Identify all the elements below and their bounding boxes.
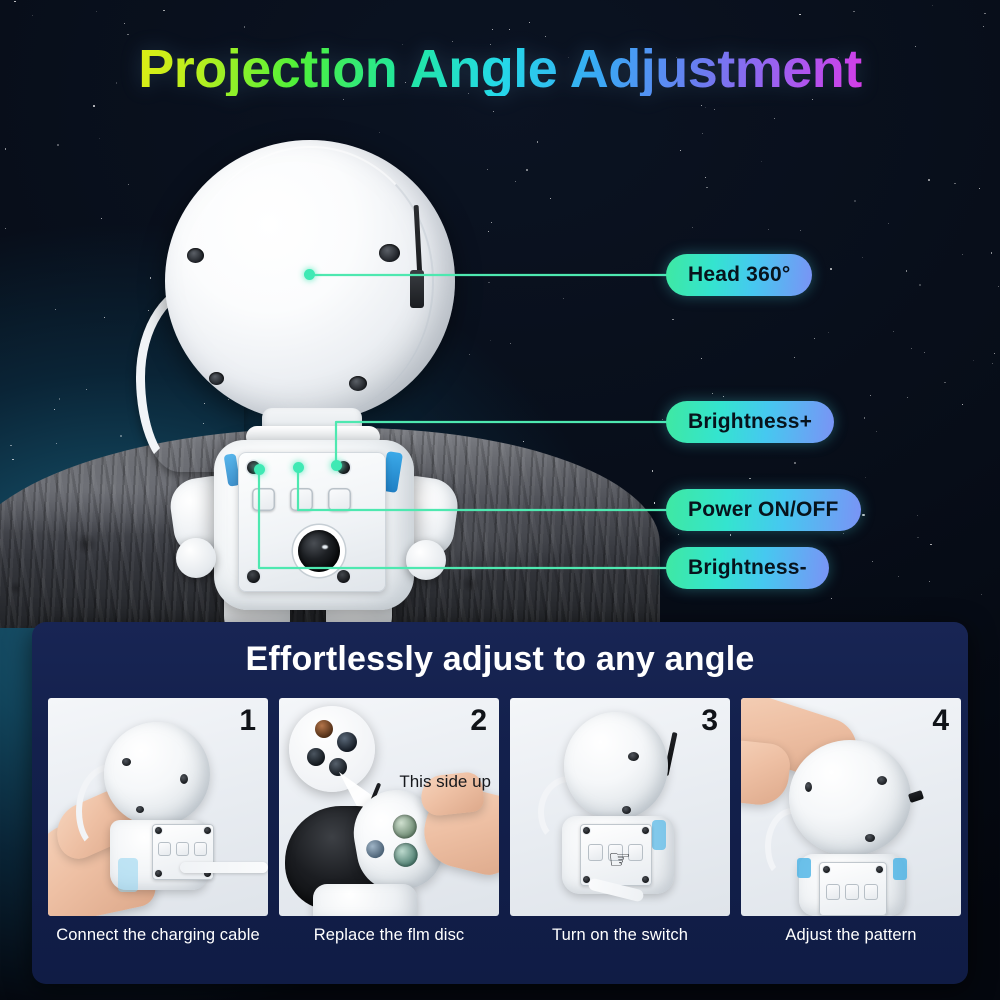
projector-head [789,740,911,856]
step-4-image: 4 [741,698,961,916]
star [929,581,930,582]
star [99,138,100,139]
star [862,257,863,258]
star [994,353,995,354]
blue-trim [652,820,666,850]
star [550,198,551,199]
star [96,11,97,12]
right-hand [406,540,446,580]
star [919,284,921,286]
star [714,109,715,110]
star [870,395,871,396]
callout-label-brightness-minus[interactable]: Brightness- [666,547,829,589]
vent-hole [122,758,131,766]
star [678,534,679,535]
vent-hole [865,834,875,842]
star [509,29,510,30]
panel-screw [583,827,590,834]
product-infographic: Projection Angle Adjustment [0,0,1000,1000]
star [57,144,59,146]
blue-trim [797,858,811,878]
star [893,331,894,332]
star [998,286,999,287]
blue-trim [118,858,138,892]
star [981,594,982,595]
panel-screw [642,827,649,834]
star [59,398,60,399]
star [944,382,946,384]
star [510,343,511,344]
star [962,404,963,405]
star [730,534,731,535]
star [101,218,102,219]
star [854,200,856,202]
star [712,393,713,394]
vent-hole [628,752,639,761]
disc-lens [337,732,357,752]
step-number: 4 [932,704,949,738]
panel-screw [337,461,350,474]
star [768,229,769,230]
star [862,514,865,517]
star [55,309,56,310]
head-vent-hole [349,376,367,391]
head-vent-hole [209,372,224,385]
brightness-down-button[interactable] [826,884,840,900]
star [928,179,930,181]
panel-screw [642,876,649,883]
callout-label-brightness-plus[interactable]: Brightness+ [666,401,834,443]
banner-heading: Effortlessly adjust to any angle [32,640,968,679]
head-vent-hole [187,248,204,263]
star [843,533,844,534]
step-1-image: 1 [48,698,268,916]
left-hand [176,538,216,578]
star [814,338,815,339]
projector-head [104,722,210,826]
vent-hole [180,774,188,784]
star [526,169,528,171]
head-vent-hole [379,244,400,262]
star [5,228,6,229]
star [794,462,797,465]
star [124,23,125,24]
star [991,252,992,253]
star [5,148,6,149]
projector-head [564,712,668,820]
star [876,431,877,432]
steps-banner: Effortlessly adjust to any angle 1 [32,622,968,984]
vent-hole [136,806,144,813]
list-item[interactable]: 2 This side up [279,698,499,945]
star [954,183,955,184]
star [515,181,516,182]
star [979,188,980,189]
step-caption: Turn on the switch [510,926,730,945]
star [812,99,813,100]
steps-list: 1 [48,698,952,945]
usb-connector [180,862,268,873]
callout-label-head[interactable]: Head 360° [666,254,812,296]
power-button[interactable] [845,884,859,900]
brightness-up-button[interactable] [864,884,878,900]
control-panel [819,862,887,916]
projector-body [313,884,417,916]
star [911,348,912,349]
star [962,254,963,255]
panel-screw [204,827,211,834]
step-2-image: 2 This side up [279,698,499,916]
page-title: Projection Angle Adjustment [0,42,1000,96]
star [705,177,706,178]
star [749,478,750,479]
star [888,223,889,224]
panel-screw [155,827,162,834]
star [774,118,775,119]
star [692,227,693,228]
list-item[interactable]: 1 [48,698,268,945]
brightness-down-button[interactable] [588,844,603,861]
star [492,29,493,30]
star [799,14,800,15]
star [163,10,164,11]
star [828,332,830,334]
this-side-up-note: This side up [399,772,491,792]
star [907,397,908,398]
step-caption: Adjust the pattern [741,926,961,945]
panel-screw [337,570,350,583]
vent-hole [622,806,631,814]
star [652,470,653,471]
star [523,441,524,442]
star [545,36,546,37]
star [761,161,762,162]
star [898,576,899,577]
star [654,502,655,503]
antenna-base [410,270,424,308]
star [831,598,832,599]
star [932,5,933,6]
star [701,358,702,359]
star [992,363,993,364]
star [800,230,801,231]
star [12,459,13,460]
star [701,105,703,107]
step-3-image: 3 [510,698,730,916]
vent-hole [877,776,887,785]
star [917,515,918,516]
star [662,419,663,420]
star [864,417,866,419]
star [865,477,866,478]
projector-lens [298,530,340,572]
star [853,11,854,12]
star [723,396,724,397]
star [32,15,33,16]
star [983,26,984,27]
brightness-up-button[interactable] [194,842,207,856]
star [244,26,245,27]
star [794,357,795,358]
step-caption: Replace the flm disc [279,926,499,945]
star [104,317,105,318]
blue-trim [893,858,907,880]
step-caption: Connect the charging cable [48,926,268,945]
star [493,111,494,112]
star [830,268,832,270]
panel-screw [247,570,260,583]
star [529,22,530,23]
star [680,150,682,152]
panel-screw [823,866,830,873]
star [706,187,707,188]
pointing-hand-cursor-icon: ☞ [608,846,631,872]
step-number: 1 [239,704,256,738]
star [917,537,918,538]
power-button[interactable] [290,488,313,511]
star [537,141,538,142]
brightness-down-button[interactable] [252,488,275,511]
brightness-up-button[interactable] [328,488,351,511]
star [56,443,57,444]
disc-lens [392,841,420,869]
star [563,298,564,299]
vent-hole [805,782,812,792]
panel-screw [247,461,260,474]
star [973,360,974,361]
star [924,352,925,353]
star [86,389,87,390]
star [702,133,703,134]
star [10,445,12,447]
step-number: 2 [470,704,487,738]
brightness-down-button[interactable] [158,842,171,856]
star [127,34,128,35]
power-button[interactable] [176,842,189,856]
disc-lens [307,748,325,766]
star [906,270,907,271]
disc-lens [391,813,419,841]
list-item[interactable]: 4 [741,698,961,945]
star [54,409,55,410]
star [672,319,673,320]
star [930,544,931,545]
step-number: 3 [701,704,718,738]
star [705,107,706,108]
star [93,105,95,107]
star [872,561,873,562]
star [14,1,16,3]
panel-screw [155,870,162,877]
disc-lens [315,720,333,738]
list-item[interactable]: 3 [510,698,730,945]
panel-screw [876,866,883,873]
disc-lens [365,839,386,860]
star [984,13,986,15]
astronaut-projector-illustration [120,130,500,610]
callout-label-power[interactable]: Power ON/OFF [666,489,861,531]
